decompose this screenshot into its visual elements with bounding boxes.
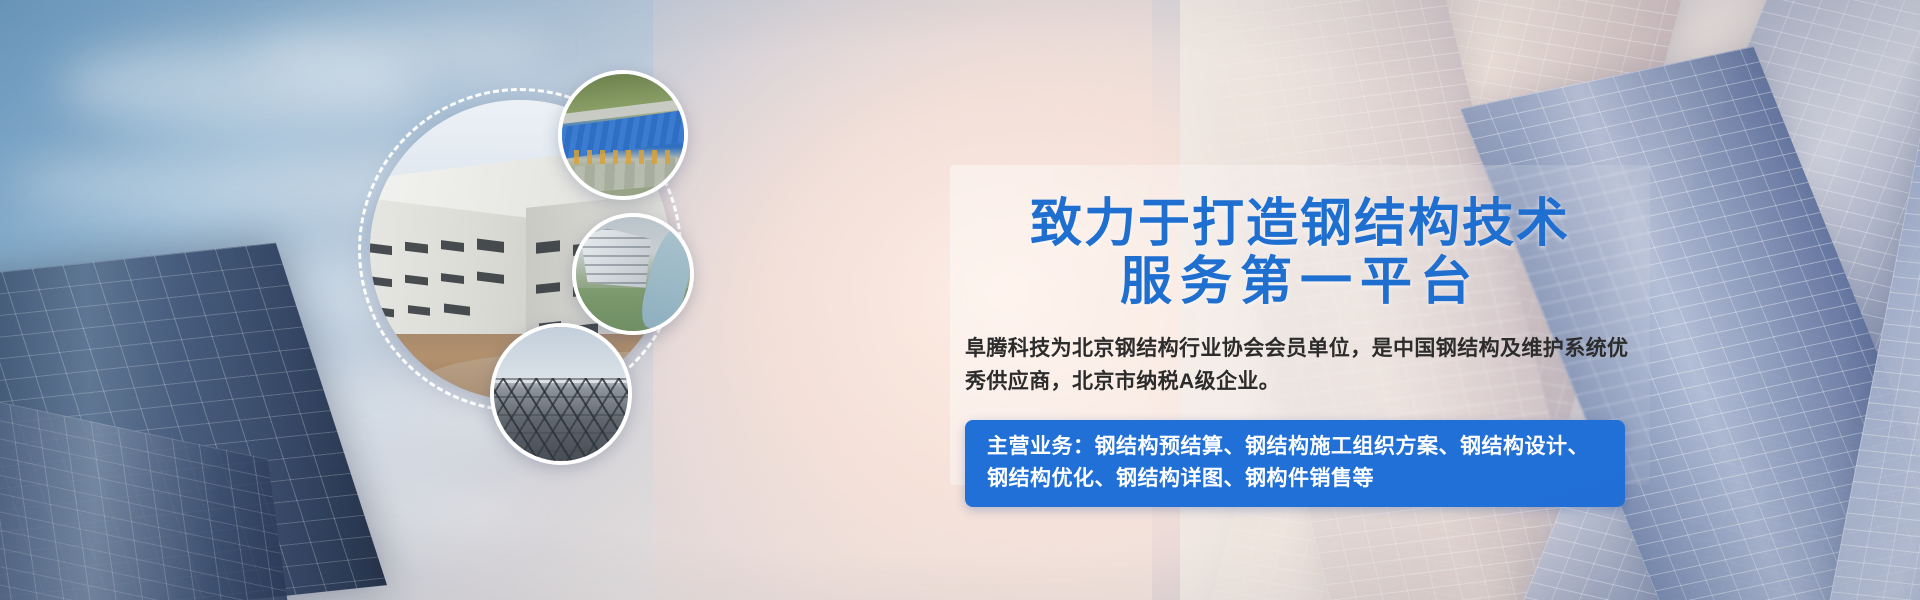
- page-title: 致力于打造钢结构技术 服务第一平台: [970, 195, 1630, 311]
- business-scope-badge: 主营业务：钢结构预结算、钢结构施工组织方案、钢结构设计、钢结构优化、钢结构详图、…: [965, 420, 1625, 507]
- photo-window-rows: [581, 228, 652, 287]
- photo-steel-lattice: [490, 378, 632, 465]
- photo-aerial-blue-roof-plant: [558, 70, 688, 200]
- photo-aerial-campus-river: [572, 213, 694, 335]
- truss-photo-art: [494, 327, 628, 461]
- photo-circle-cluster: [350, 55, 750, 475]
- aerial-plant-art: [562, 74, 684, 196]
- photo-buildings: [581, 228, 652, 287]
- photo-sky: [494, 327, 628, 383]
- headline-line-1: 致力于打造钢结构技术: [970, 195, 1630, 253]
- company-description: 阜腾科技为北京钢结构行业协会会员单位，是中国钢结构及维护系统优秀供应商，北京市纳…: [965, 333, 1645, 398]
- aerial-campus-art: [576, 217, 690, 331]
- headline-line-2: 服务第一平台: [970, 253, 1630, 311]
- photo-flower-beds: [574, 150, 672, 165]
- hero-banner: 致力于打造钢结构技术 服务第一平台 阜腾科技为北京钢结构行业协会会员单位，是中国…: [0, 0, 1920, 600]
- photo-steel-space-frame-truss: [490, 323, 632, 465]
